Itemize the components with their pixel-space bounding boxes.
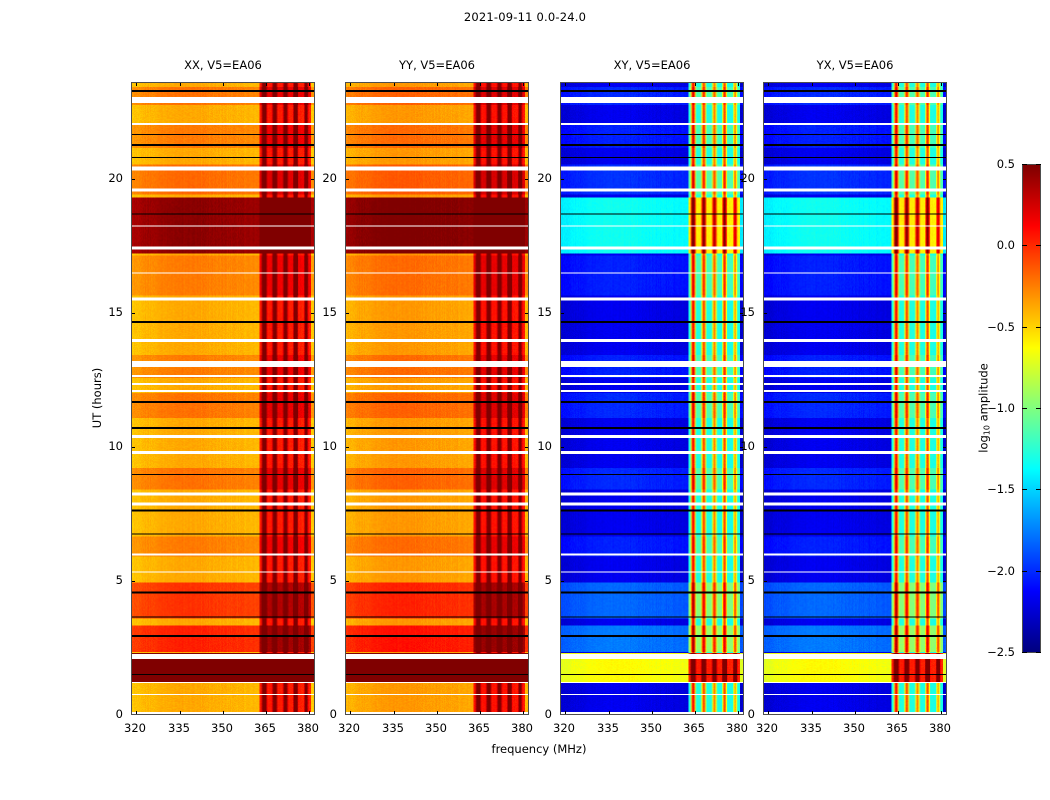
- x-tick-label: 335: [597, 721, 619, 735]
- y-tick-right: [740, 581, 744, 582]
- y-tick-right: [525, 313, 529, 314]
- colorbar-tick-right: [1036, 652, 1041, 653]
- x-tick: [266, 711, 267, 715]
- x-tick-top: [652, 82, 653, 86]
- y-tick: [345, 447, 349, 448]
- colorbar-tick-right: [1036, 327, 1041, 328]
- x-tick: [855, 711, 856, 715]
- y-tick: [763, 581, 767, 582]
- y-tick-right: [311, 179, 315, 180]
- y-tick: [763, 179, 767, 180]
- y-tick-label: 0: [748, 707, 755, 721]
- y-tick: [560, 179, 564, 180]
- y-tick: [560, 447, 564, 448]
- y-tick-label: 20: [740, 171, 755, 185]
- x-tick-top: [695, 82, 696, 86]
- x-tick-label: 320: [338, 721, 360, 735]
- x-tick-top: [309, 82, 310, 86]
- y-tick-right: [943, 447, 947, 448]
- panel-yy-axes[interactable]: [345, 82, 529, 715]
- x-tick-top: [480, 82, 481, 86]
- x-tick-label: 350: [425, 721, 447, 735]
- x-tick-label: 350: [843, 721, 865, 735]
- y-tick-label: 10: [322, 439, 337, 453]
- y-tick-right: [311, 581, 315, 582]
- panel-yx[interactable]: YX, V5=EA06 32033535036538005101520: [763, 82, 947, 715]
- colorbar-tick: [1022, 408, 1027, 409]
- x-tick-top: [898, 82, 899, 86]
- x-tick-label: 365: [886, 721, 908, 735]
- x-tick: [768, 711, 769, 715]
- panel-yy-title: YY, V5=EA06: [345, 58, 529, 72]
- colorbar-tick-label: 0.5: [997, 157, 1015, 171]
- colorbar-tick-right: [1036, 571, 1041, 572]
- colorbar-tick: [1022, 327, 1027, 328]
- y-tick-label: 10: [537, 439, 552, 453]
- x-tick: [136, 711, 137, 715]
- y-tick-right: [943, 581, 947, 582]
- x-tick: [609, 711, 610, 715]
- x-tick-top: [136, 82, 137, 86]
- colorbar-tick-label: −2.5: [987, 645, 1015, 659]
- colorbar-tick-label: −1.5: [987, 482, 1015, 496]
- y-tick-label: 10: [740, 439, 755, 453]
- y-tick-label: 0: [545, 707, 552, 721]
- y-tick-right: [525, 581, 529, 582]
- x-tick: [738, 711, 739, 715]
- y-tick: [763, 447, 767, 448]
- x-tick-label: 335: [800, 721, 822, 735]
- x-tick-label: 320: [124, 721, 146, 735]
- y-tick: [345, 313, 349, 314]
- x-tick-top: [768, 82, 769, 86]
- colorbar-tick: [1022, 164, 1027, 165]
- panel-xy-axes[interactable]: [560, 82, 744, 715]
- y-tick-label: 5: [545, 573, 552, 587]
- panel-yx-title: YX, V5=EA06: [763, 58, 947, 72]
- y-tick-label: 15: [740, 305, 755, 319]
- colorbar-tick-right: [1036, 164, 1041, 165]
- x-tick-label: 335: [382, 721, 404, 735]
- panel-xy[interactable]: XY, V5=EA06 32033535036538005101520: [560, 82, 744, 715]
- x-tick-top: [565, 82, 566, 86]
- panel-yy[interactable]: YY, V5=EA06 32033535036538005101520: [345, 82, 529, 715]
- x-tick-label: 380: [511, 721, 533, 735]
- panel-xy-heatmap: [561, 83, 743, 714]
- y-tick-label: 10: [108, 439, 123, 453]
- x-tick-top: [812, 82, 813, 86]
- x-tick-label: 380: [929, 721, 951, 735]
- x-tick-label: 365: [468, 721, 490, 735]
- x-tick-top: [266, 82, 267, 86]
- y-tick: [131, 581, 135, 582]
- figure-suptitle: 2021-09-11 0.0-24.0: [0, 10, 1050, 24]
- colorbar-tick-label: 0.0: [997, 238, 1015, 252]
- x-tick-top: [941, 82, 942, 86]
- y-tick: [131, 179, 135, 180]
- y-tick-right: [311, 313, 315, 314]
- colorbar-tick-right: [1036, 408, 1041, 409]
- x-tick: [812, 711, 813, 715]
- colorbar-tick: [1022, 571, 1027, 572]
- panel-yx-axes[interactable]: [763, 82, 947, 715]
- y-tick-right: [943, 179, 947, 180]
- panel-yy-heatmap: [346, 83, 528, 714]
- x-tick: [394, 711, 395, 715]
- y-tick: [560, 581, 564, 582]
- panel-xx-axes[interactable]: [131, 82, 315, 715]
- y-axis-label: UT (hours): [90, 368, 104, 428]
- y-tick-label: 5: [116, 573, 123, 587]
- x-tick: [898, 711, 899, 715]
- x-tick: [941, 711, 942, 715]
- x-tick: [309, 711, 310, 715]
- y-tick-label: 5: [748, 573, 755, 587]
- x-tick-label: 350: [640, 721, 662, 735]
- x-tick-top: [437, 82, 438, 86]
- x-tick: [437, 711, 438, 715]
- x-tick-top: [180, 82, 181, 86]
- colorbar-tick-label: −2.0: [987, 564, 1015, 578]
- x-tick-label: 320: [553, 721, 575, 735]
- colorbar-label: log10 amplitude: [977, 363, 992, 453]
- x-tick-label: 380: [726, 721, 748, 735]
- x-tick-label: 365: [683, 721, 705, 735]
- y-tick-right: [943, 313, 947, 314]
- colorbar-tick: [1022, 245, 1027, 246]
- x-tick-top: [609, 82, 610, 86]
- x-tick: [180, 711, 181, 715]
- y-tick: [345, 581, 349, 582]
- panel-xx[interactable]: XX, V5=EA06 32033535036538005101520: [131, 82, 315, 715]
- colorbar[interactable]: 0.50.0−0.5−1.0−1.5−2.0−2.5: [1022, 164, 1041, 653]
- x-tick-label: 335: [168, 721, 190, 735]
- y-tick-label: 15: [108, 305, 123, 319]
- panel-xx-title: XX, V5=EA06: [131, 58, 315, 72]
- y-tick-label: 20: [537, 171, 552, 185]
- colorbar-tick: [1022, 652, 1027, 653]
- x-tick: [480, 711, 481, 715]
- colorbar-tick: [1022, 489, 1027, 490]
- y-tick-right: [525, 447, 529, 448]
- x-tick-top: [855, 82, 856, 86]
- x-tick: [565, 711, 566, 715]
- x-tick-label: 365: [254, 721, 276, 735]
- y-tick: [131, 313, 135, 314]
- panel-yx-heatmap: [764, 83, 946, 714]
- x-tick-label: 350: [211, 721, 233, 735]
- x-tick-top: [350, 82, 351, 86]
- y-tick: [131, 447, 135, 448]
- x-tick: [350, 711, 351, 715]
- colorbar-tick-right: [1036, 489, 1041, 490]
- y-tick-label: 20: [108, 171, 123, 185]
- x-tick-top: [523, 82, 524, 86]
- y-tick-label: 15: [322, 305, 337, 319]
- x-tick-top: [394, 82, 395, 86]
- y-tick-label: 0: [116, 707, 123, 721]
- panel-xy-title: XY, V5=EA06: [560, 58, 744, 72]
- x-tick-label: 320: [756, 721, 778, 735]
- y-tick: [345, 179, 349, 180]
- panel-xx-heatmap: [132, 83, 314, 714]
- x-tick: [652, 711, 653, 715]
- colorbar-tick-label: −0.5: [987, 320, 1015, 334]
- figure-canvas: 2021-09-11 0.0-24.0 XX, V5=EA06 32033535…: [0, 0, 1050, 800]
- x-tick-top: [738, 82, 739, 86]
- y-tick-label: 20: [322, 171, 337, 185]
- y-tick-label: 15: [537, 305, 552, 319]
- y-tick: [763, 313, 767, 314]
- x-tick-label: 380: [297, 721, 319, 735]
- x-axis-label: frequency (MHz): [131, 742, 947, 756]
- y-tick-label: 5: [330, 573, 337, 587]
- colorbar-tick-right: [1036, 245, 1041, 246]
- y-tick-right: [525, 179, 529, 180]
- y-tick: [560, 313, 564, 314]
- x-tick: [223, 711, 224, 715]
- x-tick: [695, 711, 696, 715]
- y-tick-label: 0: [330, 707, 337, 721]
- x-tick: [523, 711, 524, 715]
- x-tick-top: [223, 82, 224, 86]
- y-tick-right: [311, 447, 315, 448]
